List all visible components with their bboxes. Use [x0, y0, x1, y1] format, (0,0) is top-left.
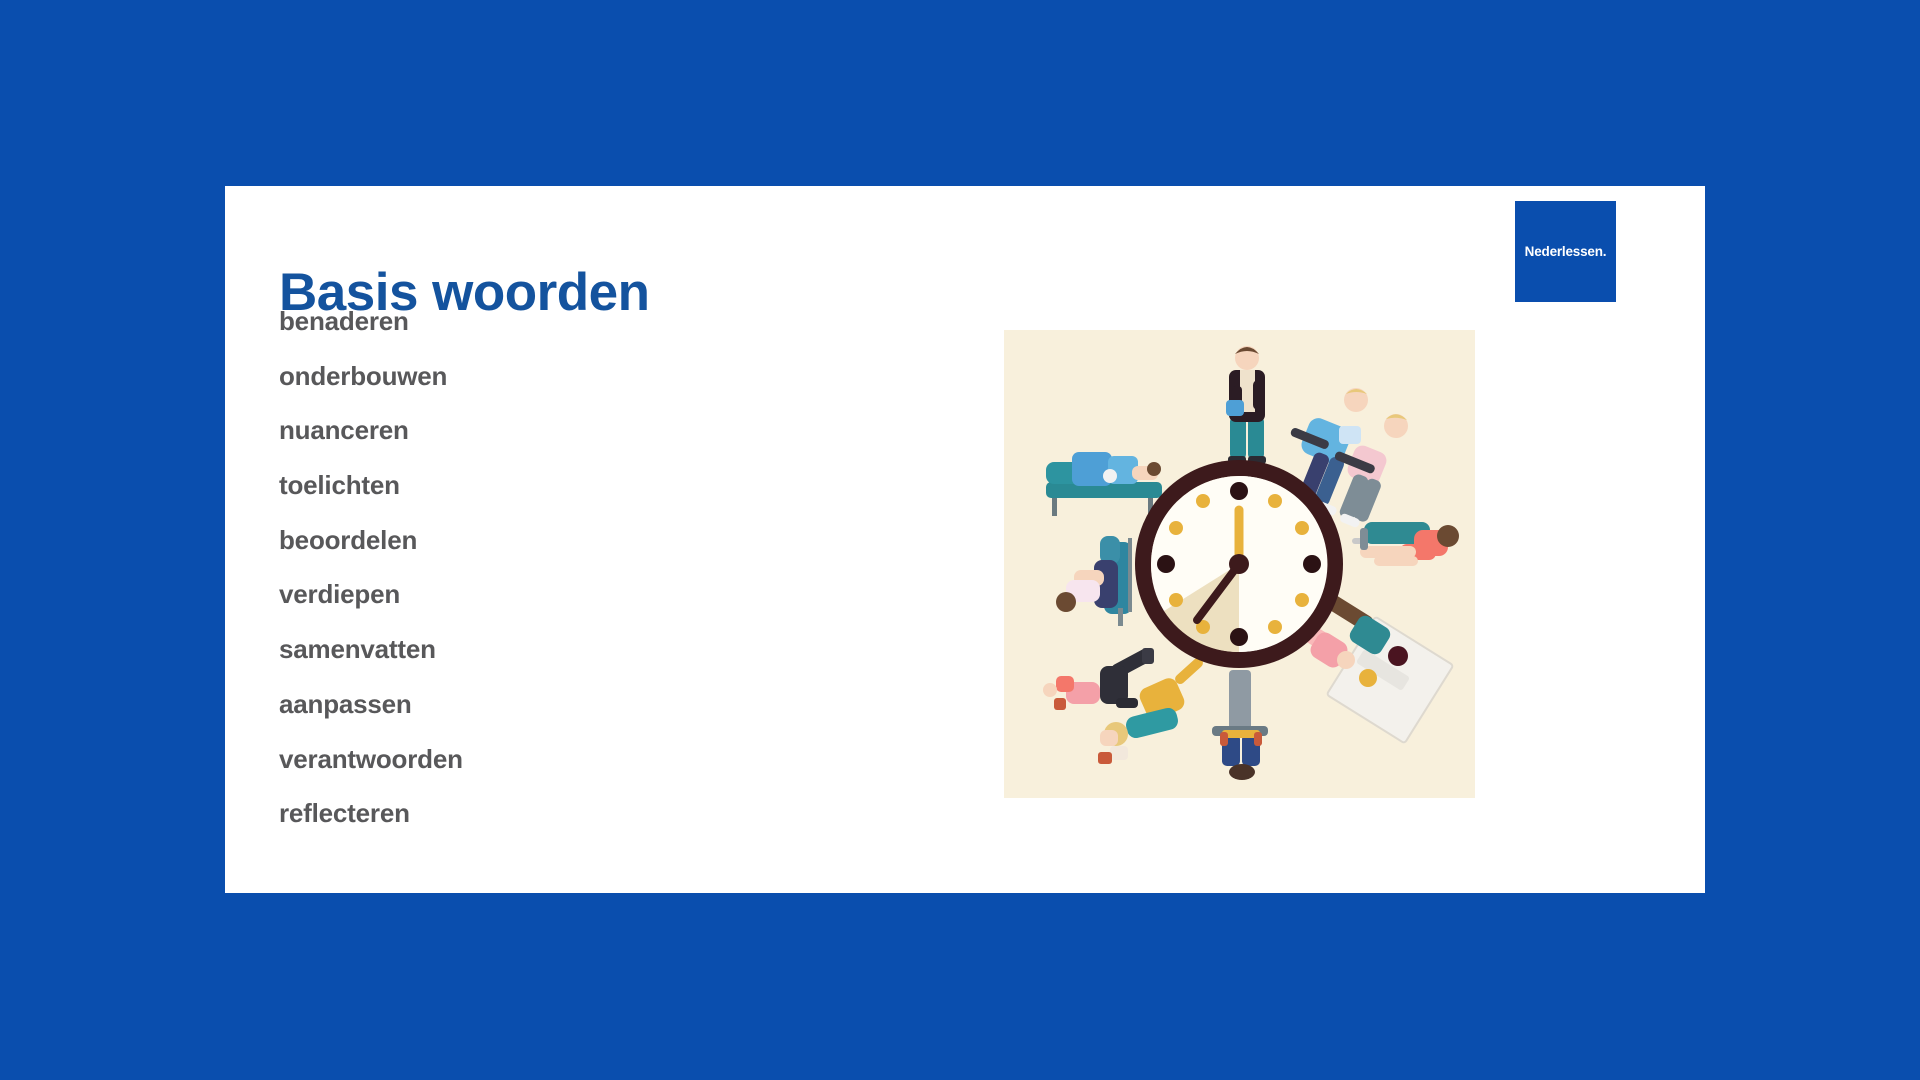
- clock-with-people-illustration: [1004, 330, 1475, 798]
- clock-marker-9: [1157, 555, 1175, 573]
- clock-marker-6: [1230, 628, 1248, 646]
- clock-illustration-svg: [1004, 330, 1475, 798]
- list-item: reflecteren: [279, 795, 899, 850]
- clock-marker-10: [1169, 521, 1183, 535]
- brand-logo-label: Nederlessen.: [1525, 244, 1607, 259]
- list-item: beoordelen: [279, 522, 899, 577]
- clock-center-pin: [1229, 554, 1249, 574]
- list-item: nuanceren: [279, 412, 899, 467]
- clock-marker-5: [1268, 620, 1282, 634]
- word-list: benaderen onderbouwen nuanceren toelicht…: [279, 303, 899, 850]
- list-item: toelichten: [279, 467, 899, 522]
- clock-face: [1135, 460, 1343, 668]
- list-item: benaderen: [279, 303, 899, 358]
- list-item: verdiepen: [279, 576, 899, 631]
- clock-marker-11: [1196, 494, 1210, 508]
- list-item: onderbouwen: [279, 358, 899, 413]
- slide-card: Basis woorden Nederlessen. benaderen ond…: [225, 186, 1705, 893]
- list-item: aanpassen: [279, 686, 899, 741]
- brand-logo: Nederlessen.: [1515, 201, 1616, 302]
- clock-marker-3: [1303, 555, 1321, 573]
- list-item: verantwoorden: [279, 741, 899, 796]
- clock-marker-4: [1295, 593, 1309, 607]
- list-item: samenvatten: [279, 631, 899, 686]
- clock-marker-1: [1268, 494, 1282, 508]
- clock-marker-8: [1169, 593, 1183, 607]
- slide-stage: Basis woorden Nederlessen. benaderen ond…: [0, 0, 1920, 1080]
- clock-marker-12: [1230, 482, 1248, 500]
- clock-marker-2: [1295, 521, 1309, 535]
